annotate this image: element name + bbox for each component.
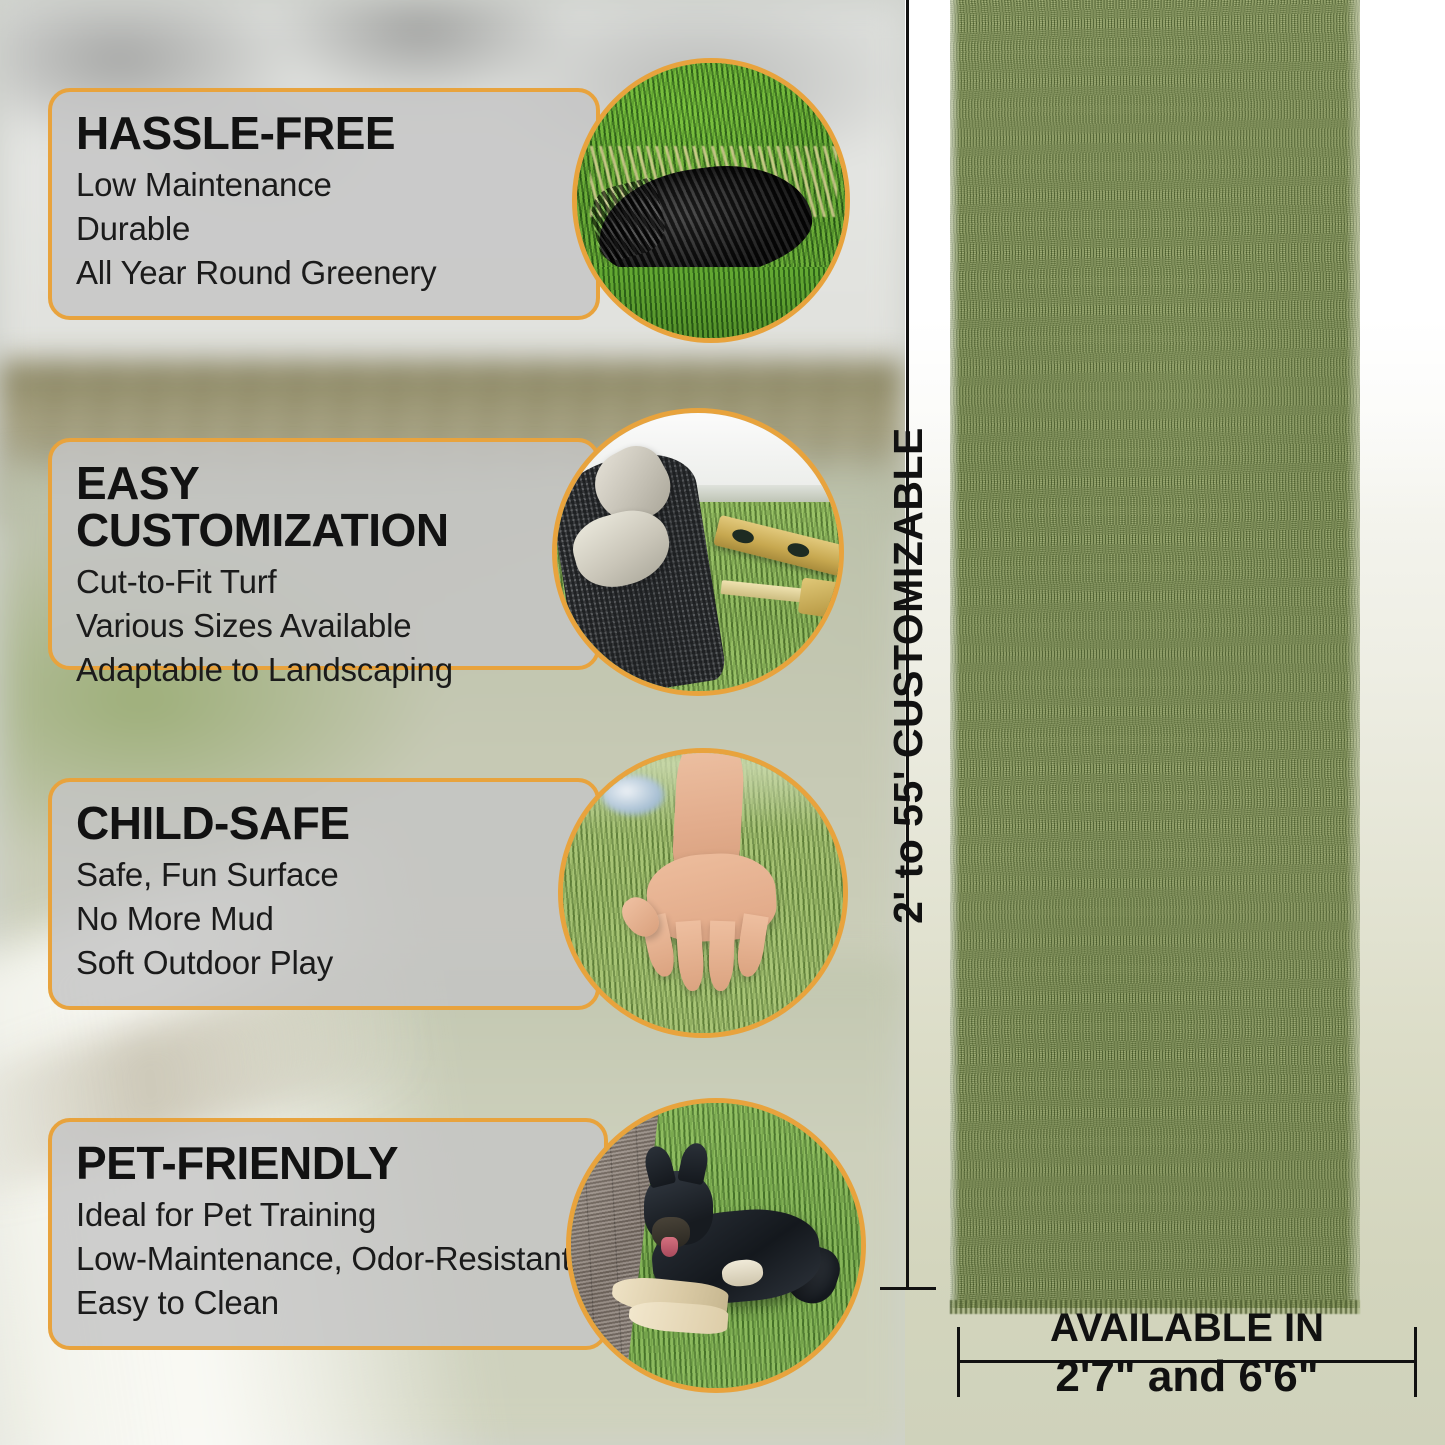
photo3-toy bbox=[602, 775, 664, 814]
feature-photo-child-hand bbox=[558, 748, 848, 1038]
vertical-dimension-label: 2' to 55' CUSTOMIZABLE bbox=[862, 345, 954, 1005]
width-label: AVAILABLE IN 2'7" and 6'6" bbox=[958, 1308, 1416, 1400]
feature-bullet: Low-Maintenance, Odor-Resistant bbox=[76, 1237, 582, 1281]
feature-title: PET-FRIENDLY bbox=[76, 1140, 582, 1187]
feature-bullet: All Year Round Greenery bbox=[76, 251, 574, 295]
turf-right-edge bbox=[1346, 0, 1360, 1308]
feature-bullet: Various Sizes Available bbox=[76, 604, 574, 648]
photo2-level-vial-b bbox=[786, 540, 811, 558]
feature-photo-dog bbox=[566, 1098, 866, 1393]
feature-bullet: Soft Outdoor Play bbox=[76, 941, 574, 985]
feature-photo-rolled-turf bbox=[572, 58, 850, 343]
feature-title: HASSLE-FREE bbox=[76, 110, 574, 157]
feature-title: EASY CUSTOMIZATION bbox=[76, 460, 574, 554]
feature-bullet: Ideal for Pet Training bbox=[76, 1193, 582, 1237]
feature-bullet: Low Maintenance bbox=[76, 163, 574, 207]
infographic-canvas: 2' to 55' CUSTOMIZABLE AVAILABLE IN 2'7"… bbox=[0, 0, 1445, 1445]
feature-bullet: Easy to Clean bbox=[76, 1281, 582, 1325]
feature-bullet: Durable bbox=[76, 207, 574, 251]
feature-bullet: Safe, Fun Surface bbox=[76, 853, 574, 897]
feature-card-child-safe: CHILD-SAFE Safe, Fun Surface No More Mud… bbox=[48, 778, 600, 1010]
turf-roll-product-image bbox=[950, 0, 1360, 1308]
feature-card-pet-friendly: PET-FRIENDLY Ideal for Pet Training Low-… bbox=[48, 1118, 608, 1350]
photo-rolled-turf bbox=[577, 63, 845, 338]
feature-title: CHILD-SAFE bbox=[76, 800, 574, 847]
width-label-line2: 2'7" and 6'6" bbox=[958, 1355, 1416, 1400]
feature-photo-installation bbox=[552, 408, 844, 696]
photo2-tape-case bbox=[797, 577, 841, 618]
feature-card-hassle-free: HASSLE-FREE Low Maintenance Durable All … bbox=[48, 88, 600, 320]
feature-card-easy-customization: EASY CUSTOMIZATION Cut-to-Fit Turf Vario… bbox=[48, 438, 600, 670]
photo2-level-vial-a bbox=[730, 527, 755, 545]
feature-bullet: Adaptable to Landscaping bbox=[76, 648, 574, 692]
photo-child-hand bbox=[563, 753, 843, 1033]
length-label-text: 2' to 55' CUSTOMIZABLE bbox=[885, 427, 932, 924]
feature-bullet: Cut-to-Fit Turf bbox=[76, 560, 574, 604]
photo1-foreground-grass bbox=[577, 267, 845, 339]
photo-installation bbox=[557, 413, 839, 691]
vertical-dimension-bottom-cap bbox=[880, 1287, 936, 1290]
photo-dog-on-turf bbox=[571, 1103, 861, 1388]
width-label-line1: AVAILABLE IN bbox=[958, 1308, 1416, 1349]
photo4-dog-tongue bbox=[661, 1237, 678, 1257]
feature-bullet: No More Mud bbox=[76, 897, 574, 941]
